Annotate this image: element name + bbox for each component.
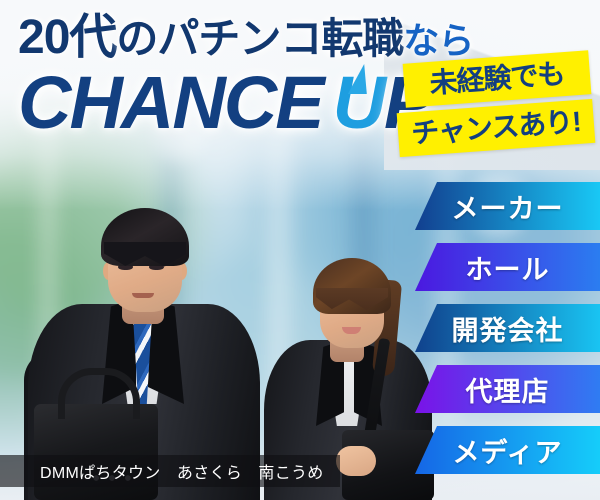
category-button-developer[interactable]: 開発会社 (415, 304, 600, 352)
person-male-businessman (18, 180, 268, 500)
category-label-maker: メーカー (452, 187, 564, 226)
category-button-media[interactable]: メディア (415, 426, 600, 474)
caption-text: DMMぱちタウン あさくら 南こうめ (40, 459, 324, 483)
category-label-developer: 開発会社 (452, 309, 564, 348)
category-label-media: メディア (452, 431, 562, 470)
logo-word-chance: CHANCE (18, 61, 323, 144)
male-mouth (132, 293, 154, 298)
photo-credit-caption: DMMぱちタウン あさくら 南こうめ (0, 455, 340, 487)
headline-age: 20代 (18, 11, 116, 64)
female-hand (336, 446, 376, 476)
recruitment-banner: 20代のパチンコ転職なら CHANCEUP 未経験でも チャンスあり! メーカー… (0, 0, 600, 500)
chance-up-logo: CHANCEUP (18, 66, 431, 140)
people-photo-group (0, 140, 420, 500)
category-button-agency[interactable]: 代理店 (415, 365, 600, 413)
female-hair (313, 258, 391, 314)
category-label-agency: 代理店 (466, 370, 550, 409)
headline-suffix: なら (403, 20, 473, 61)
headline: 20代のパチンコ転職なら (18, 14, 473, 62)
headline-mid: のパチンコ転職 (116, 15, 403, 62)
category-button-hall[interactable]: ホール (415, 243, 600, 291)
category-label-hall: ホール (466, 248, 550, 287)
category-button-maker[interactable]: メーカー (415, 182, 600, 230)
